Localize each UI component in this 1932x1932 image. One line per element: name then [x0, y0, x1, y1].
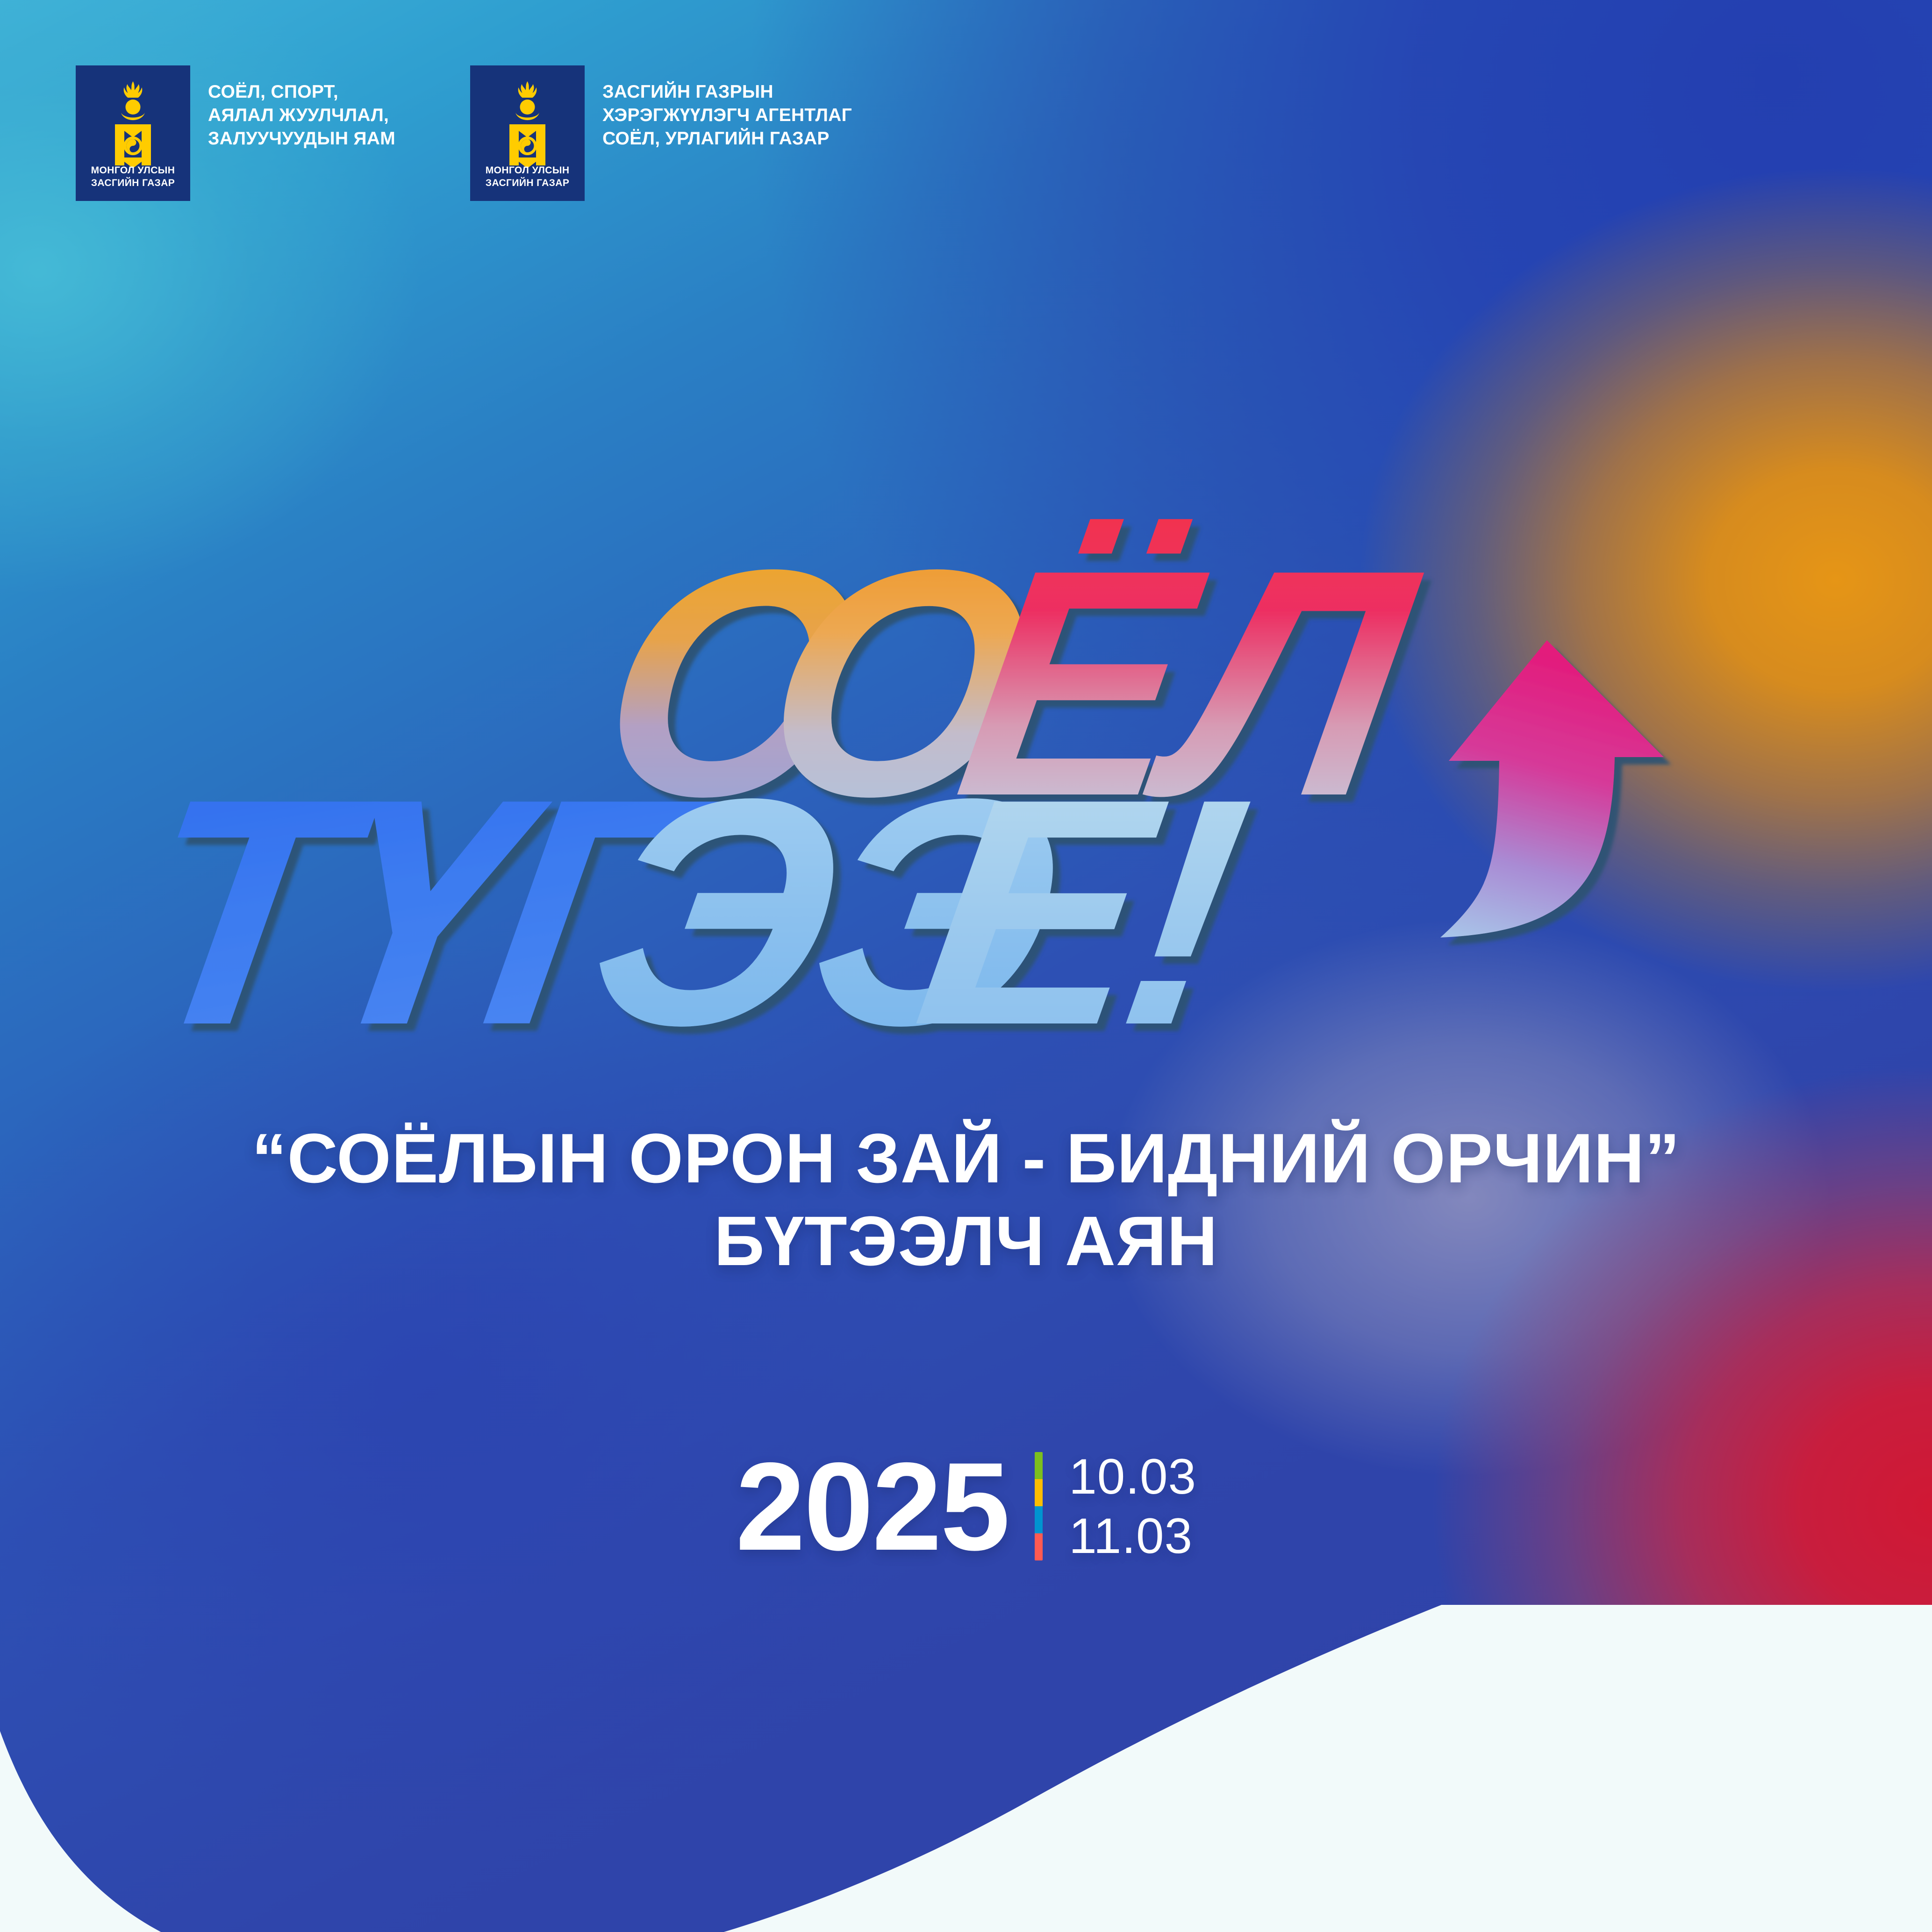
event-date-end: 11.03	[1069, 1510, 1196, 1562]
logo-block-ministry: МОНГОЛ УЛСЫН ЗАСГИЙН ГАЗАР СОЁЛ, СПОРТ, …	[76, 65, 395, 201]
logotype-word-tugeee: ТҮГ ЭЭ Е!	[114, 732, 1266, 1092]
emblem-caption: МОНГОЛ УЛСЫН ЗАСГИЙН ГАЗАР	[470, 164, 585, 190]
mongolia-government-emblem-2: МОНГОЛ УЛСЫН ЗАСГИЙН ГАЗАР	[470, 65, 585, 201]
campaign-logotype: С О ЁЛ ТҮГ ЭЭ Е!	[0, 458, 1932, 1112]
subtitle-line-1: “СОЁЛЫН ОРОН ЗАЙ - БИДНИЙ ОРЧИН”	[0, 1117, 1932, 1200]
event-date-block: 2025 10.03 11.03	[0, 1449, 1932, 1564]
event-year: 2025	[736, 1449, 1009, 1564]
divider-segment-blue	[1035, 1506, 1043, 1533]
event-date-list: 10.03 11.03	[1069, 1451, 1196, 1562]
poster-canvas: МОНГОЛ УЛСЫН ЗАСГИЙН ГАЗАР СОЁЛ, СПОРТ, …	[0, 0, 1932, 1932]
divider-segment-green	[1035, 1452, 1043, 1479]
curved-up-arrow-icon	[1440, 640, 1664, 937]
bottom-white-swoosh	[0, 1605, 1932, 1932]
logo-block-agency: МОНГОЛ УЛСЫН ЗАСГИЙН ГАЗАР ЗАСГИЙН ГАЗРЫ…	[470, 65, 852, 201]
svg-text:Е!: Е!	[900, 732, 1266, 1092]
divider-segment-amber	[1035, 1479, 1043, 1506]
header-logo-row: МОНГОЛ УЛСЫН ЗАСГИЙН ГАЗАР СОЁЛ, СПОРТ, …	[76, 65, 852, 201]
event-date-start: 10.03	[1069, 1451, 1196, 1503]
divider-segment-red	[1035, 1533, 1043, 1560]
color-divider-bar	[1035, 1452, 1043, 1560]
ministry-name-text: СОЁЛ, СПОРТ, АЯЛАЛ ЖУУЛЧЛАЛ, ЗАЛУУЧУУДЫН…	[208, 65, 395, 150]
mongolia-government-emblem-1: МОНГОЛ УЛСЫН ЗАСГИЙН ГАЗАР	[76, 65, 190, 201]
subtitle-line-2: БҮТЭЭЛЧ АЯН	[0, 1200, 1932, 1282]
emblem-caption: МОНГОЛ УЛСЫН ЗАСГИЙН ГАЗАР	[76, 164, 190, 190]
agency-name-text: ЗАСГИЙН ГАЗРЫН ХЭРЭГЖҮҮЛЭГЧ АГЕНТЛАГ СОЁ…	[602, 65, 852, 150]
campaign-subtitle: “СОЁЛЫН ОРОН ЗАЙ - БИДНИЙ ОРЧИН” БҮТЭЭЛЧ…	[0, 1117, 1932, 1282]
